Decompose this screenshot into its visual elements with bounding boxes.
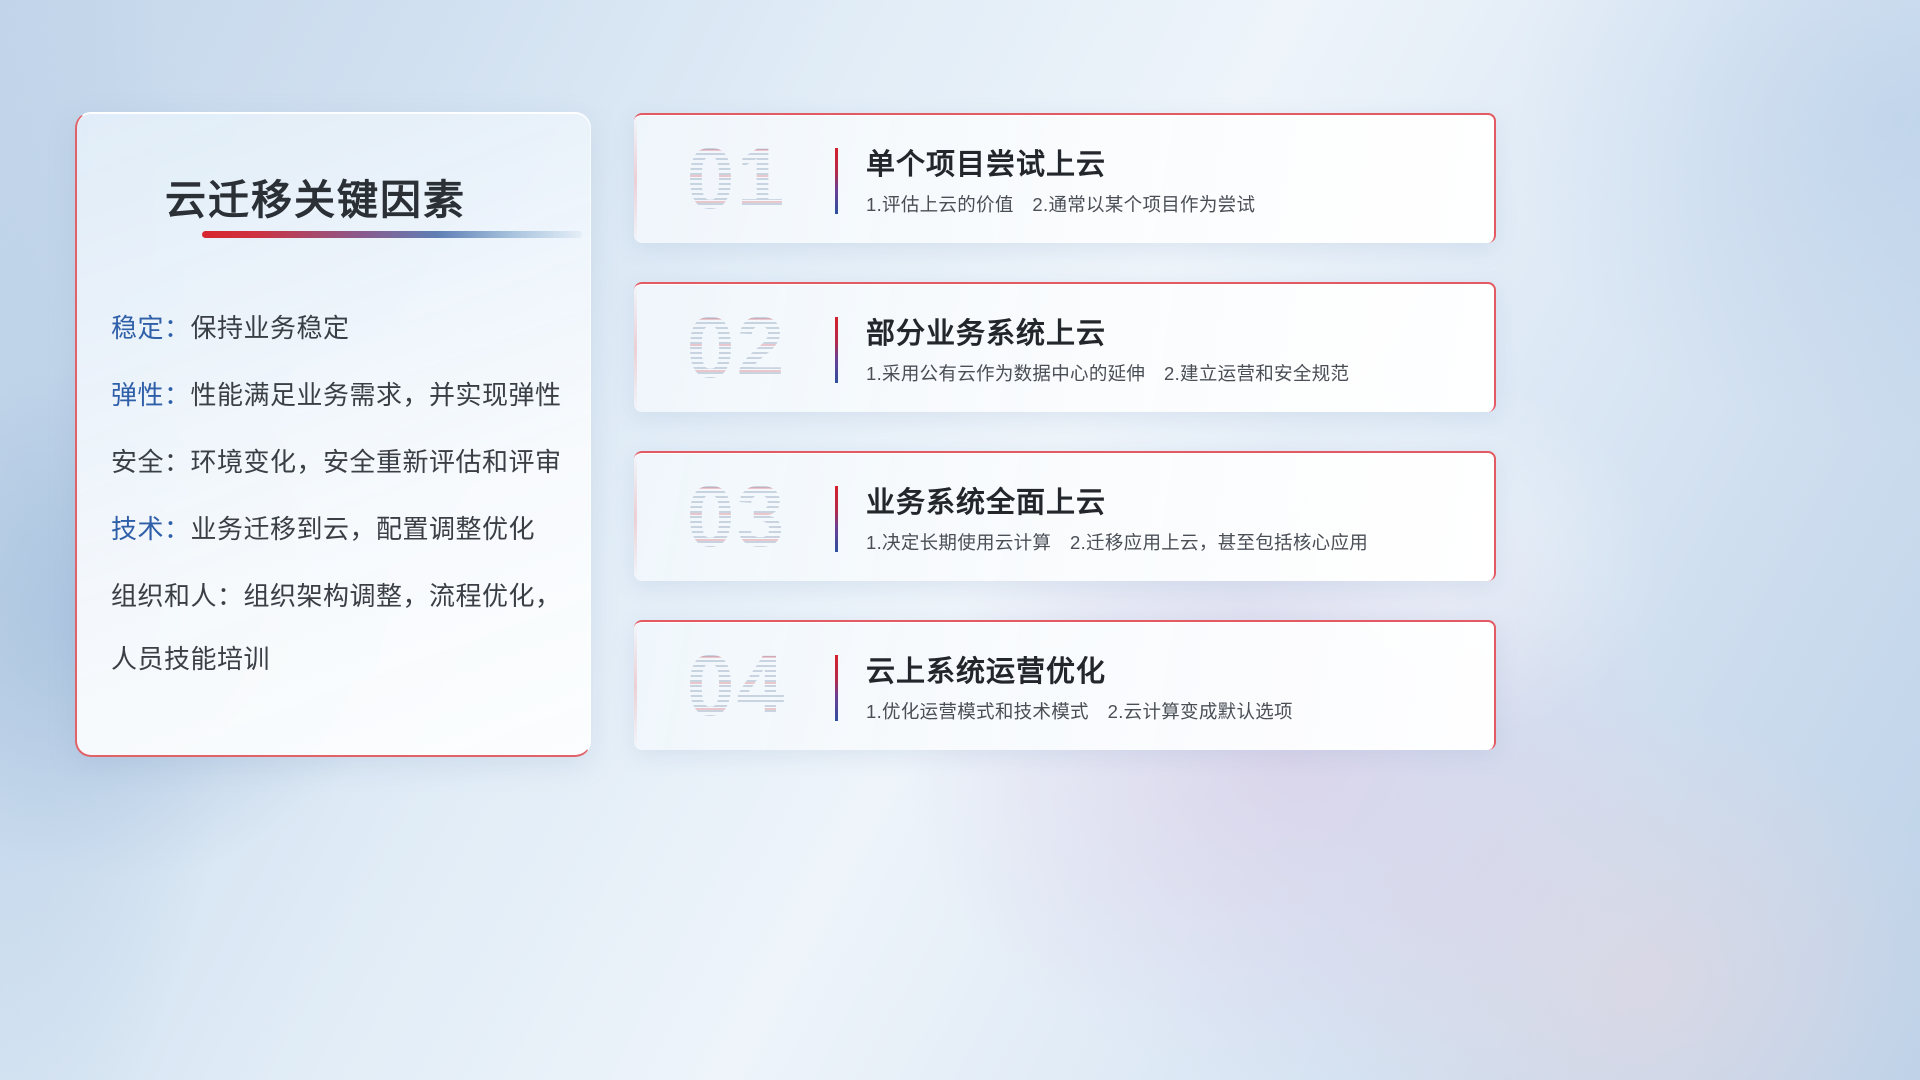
list-item-label: 技术：: [111, 514, 191, 544]
stage-card-title: 单个项目尝试上云: [866, 141, 1106, 183]
migration-stage-cards: 01 01 单个项目尝试上云 1.评估上云的价值 2.通常以某个项目作为尝试 0…: [634, 113, 1496, 750]
card-divider-bar: [835, 655, 838, 721]
list-item-text: 人员技能培训: [111, 644, 270, 674]
list-item-text: 保持业务稳定: [191, 313, 350, 343]
stage-card-title: 云上系统运营优化: [866, 648, 1106, 690]
card-divider-bar: [835, 486, 838, 552]
list-item: 弹性：性能满足业务需求，并实现弹性: [111, 378, 564, 413]
stage-card-description: 1.优化运营模式和技术模式 2.云计算变成默认选项: [866, 698, 1476, 724]
list-item: 安全：环境变化，安全重新评估和评审: [111, 445, 564, 480]
list-item: 稳定：保持业务稳定: [111, 311, 564, 346]
list-item-label: 安全：: [111, 447, 191, 477]
list-item: 技术：业务迁移到云，配置调整优化: [111, 512, 564, 547]
list-item-label: 稳定：: [111, 313, 191, 343]
list-item-text: 性能满足业务需求，并实现弹性: [191, 380, 562, 410]
list-item-text: 环境变化，安全重新评估和评审: [191, 447, 562, 477]
stage-number-01-tint: 01: [654, 123, 819, 235]
list-item-text: 业务迁移到云，配置调整优化: [191, 514, 536, 544]
stage-card-title: 部分业务系统上云: [866, 310, 1106, 352]
stage-card-description: 1.决定长期使用云计算 2.迁移应用上云，甚至包括核心应用: [866, 529, 1476, 555]
stage-card-description: 1.评估上云的价值 2.通常以某个项目作为尝试: [866, 191, 1476, 217]
stage-card-04[interactable]: 04 04 云上系统运营优化 1.优化运营模式和技术模式 2.云计算变成默认选项: [634, 620, 1496, 750]
key-factors-list: 稳定：保持业务稳定 弹性：性能满足业务需求，并实现弹性 安全：环境变化，安全重新…: [111, 311, 564, 678]
stage-card-title: 业务系统全面上云: [866, 479, 1106, 521]
stage-number-03-tint: 03: [654, 461, 819, 573]
stage-card-description: 1.采用公有云作为数据中心的延伸 2.建立运营和安全规范: [866, 360, 1476, 386]
list-item-label: 弹性：: [111, 380, 191, 410]
list-item-text: 组织架构调整，流程优化，: [244, 581, 562, 611]
list-item: 组织和人：组织架构调整，流程优化，: [111, 579, 564, 614]
stage-card-02[interactable]: 02 02 部分业务系统上云 1.采用公有云作为数据中心的延伸 2.建立运营和安…: [634, 282, 1496, 412]
stage-number-04-tint: 04: [654, 630, 819, 742]
list-item-continuation: 人员技能培训: [111, 642, 564, 677]
stage-card-03[interactable]: 03 03 业务系统全面上云 1.决定长期使用云计算 2.迁移应用上云，甚至包括…: [634, 451, 1496, 581]
key-factors-panel: 云迁移关键因素 稳定：保持业务稳定 弹性：性能满足业务需求，并实现弹性 安全：环…: [75, 112, 591, 757]
page-title: 云迁移关键因素: [165, 166, 466, 226]
stage-card-01[interactable]: 01 01 单个项目尝试上云 1.评估上云的价值 2.通常以某个项目作为尝试: [634, 113, 1496, 243]
title-underline-rule: [202, 231, 582, 238]
card-divider-bar: [835, 317, 838, 383]
stage-number-02-tint: 02: [654, 292, 819, 404]
list-item-label: 组织和人：: [111, 581, 244, 611]
card-divider-bar: [835, 148, 838, 214]
